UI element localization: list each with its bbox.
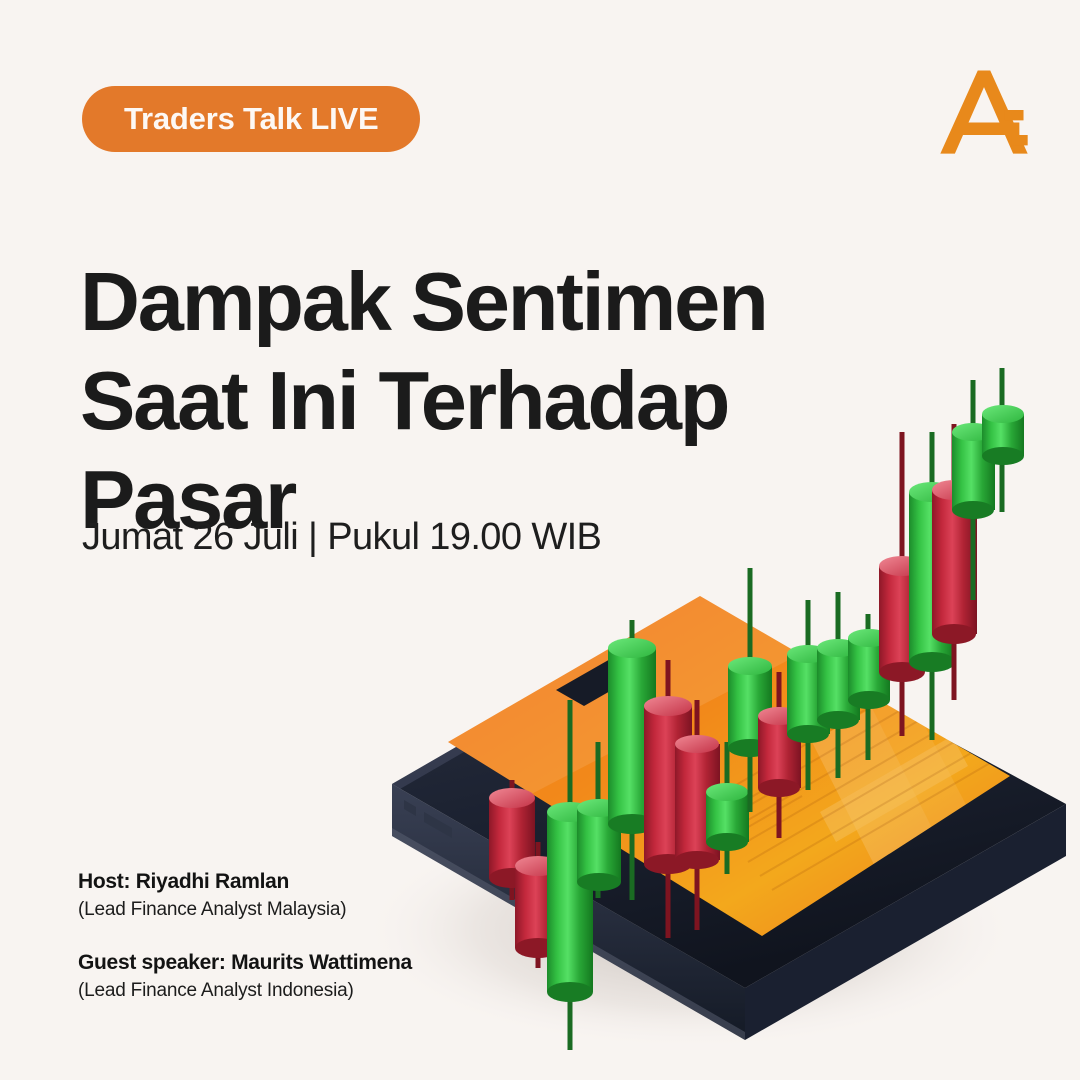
live-badge: Traders Talk LIVE <box>82 86 420 152</box>
credit-item-host: Host: Riyadhi Ramlan (Lead Finance Analy… <box>78 868 598 923</box>
host-role: (Lead Finance Analyst Malaysia) <box>78 896 598 923</box>
brand-a-logo-icon <box>932 58 1036 162</box>
host-name: Host: Riyadhi Ramlan <box>78 868 598 896</box>
page-title: Dampak Sentimen Saat Ini Terhadap Pasar <box>80 252 840 549</box>
guest-name: Guest speaker: Maurits Wattimena <box>78 949 598 977</box>
schedule-text: Jumat 26 Juli | Pukul 19.00 WIB <box>82 516 601 559</box>
credits-list: Host: Riyadhi Ramlan (Lead Finance Analy… <box>78 868 598 1004</box>
promo-poster: Traders Talk LIVE Dampak Sentimen Saat I… <box>0 0 1080 1080</box>
credit-item-guest: Guest speaker: Maurits Wattimena (Lead F… <box>78 949 598 1004</box>
live-badge-label: Traders Talk LIVE <box>124 101 378 137</box>
guest-role: (Lead Finance Analyst Indonesia) <box>78 977 598 1004</box>
